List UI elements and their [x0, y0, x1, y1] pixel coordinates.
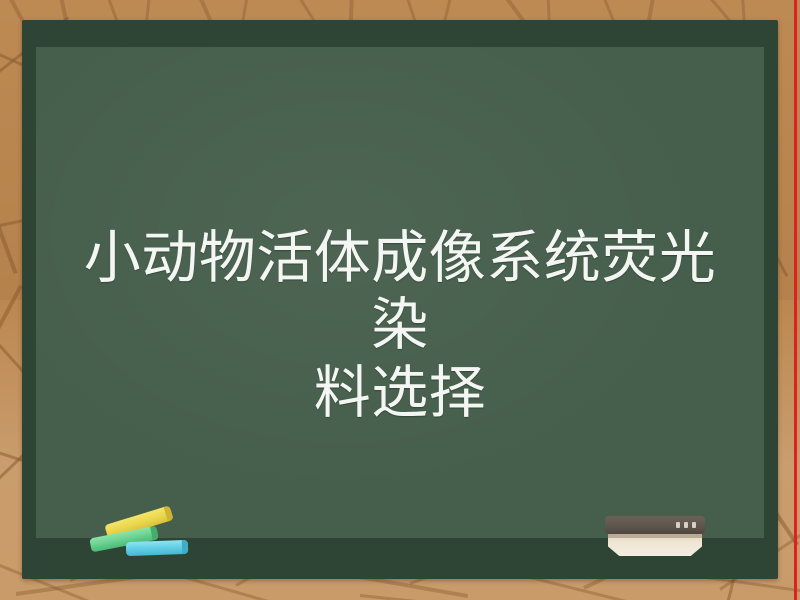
eraser-grip — [605, 516, 705, 534]
title-line-2: 料选择 — [70, 360, 730, 427]
chalkboard-eraser — [605, 516, 705, 556]
blackboard-title-card: 小动物活体成像系统荧光染 料选择 — [0, 0, 800, 600]
blue-chalk-tip — [182, 540, 188, 554]
eraser-grip-dots — [676, 522, 696, 528]
red-edge-stripe — [794, 0, 797, 600]
blue-chalk-body — [126, 540, 188, 556]
blackboard-surface: 小动物活体成像系统荧光染 料选择 — [36, 47, 764, 538]
eraser-grip-dot — [684, 522, 688, 528]
page-title: 小动物活体成像系统荧光染 料选择 — [36, 225, 764, 427]
blackboard-frame: 小动物活体成像系统荧光染 料选择 — [22, 20, 778, 579]
eraser-grip-dot — [692, 522, 696, 528]
title-line-1: 小动物活体成像系统荧光染 — [70, 225, 730, 360]
blue-chalk — [126, 540, 188, 556]
eraser-grip-dot — [676, 522, 680, 528]
